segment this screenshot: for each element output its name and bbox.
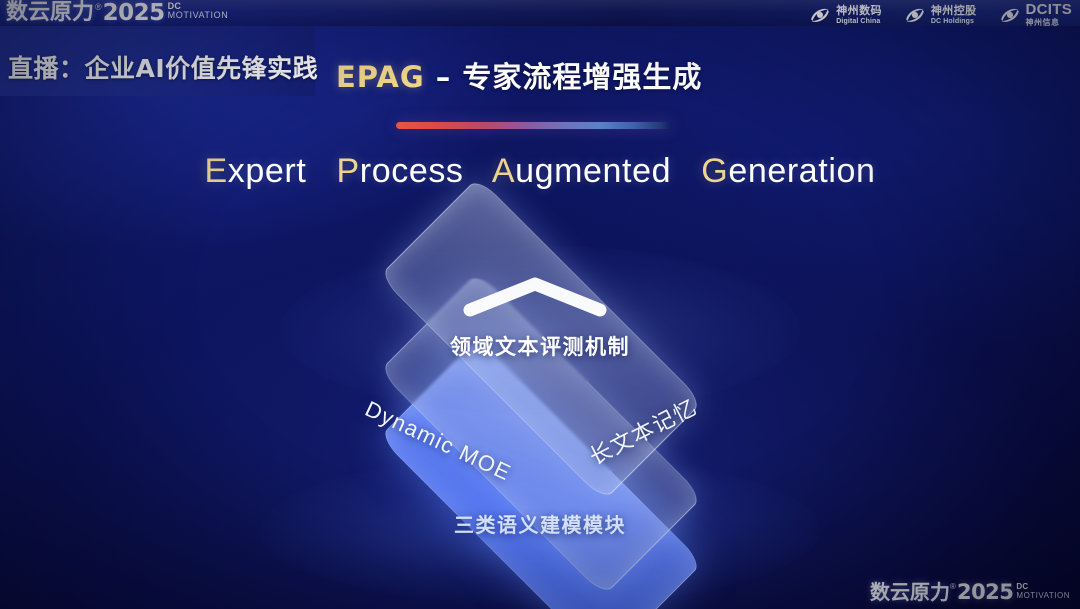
watermark-subtitle: DC MOTIVATION xyxy=(1016,582,1070,600)
watermark-motivation-label: MOTIVATION xyxy=(1016,591,1070,600)
brand-year: 2025 xyxy=(103,1,165,25)
partner-name-en: Digital China xyxy=(836,18,882,25)
partner-name-cn: 神州控股 xyxy=(931,5,977,16)
partner-logo-text: 神州控股 DC Holdings xyxy=(931,5,977,25)
watermark-dc-label: DC xyxy=(1016,582,1070,591)
watermark-year: 2025 xyxy=(957,581,1013,603)
subtitle-cap: E xyxy=(205,152,228,190)
partner-name-cn: DCITS xyxy=(1026,2,1073,17)
subtitle-cap: A xyxy=(492,152,515,190)
page-title: EPAG – 专家流程增强生成 xyxy=(336,54,702,96)
subtitle-word-process: Process xyxy=(337,152,464,190)
live-banner-label: 直播：企业AI价值先锋实践 xyxy=(8,49,318,85)
swirl-logo-icon xyxy=(999,5,1021,25)
subtitle-cap: G xyxy=(701,152,728,190)
swirl-logo-icon xyxy=(809,5,831,25)
subtitle-rest: rocess xyxy=(360,152,464,190)
partner-logo-digital-china: 神州数码 Digital China xyxy=(809,5,882,25)
brand-subtitle: DC MOTIVATION xyxy=(168,2,229,20)
partner-logo-group: 神州数码 Digital China 神州控股 DC Holdings xyxy=(809,2,1072,27)
brand-name-cn: 数云原力 xyxy=(6,1,94,25)
subtitle-space xyxy=(316,152,326,190)
bottom-watermark-logo: 数云原力 ® 2025 DC MOTIVATION xyxy=(870,581,1070,603)
partner-logo-dcits: DCITS 神州信息 xyxy=(999,2,1073,27)
subtitle-rest: eneration xyxy=(728,152,875,190)
subtitle-word-augmented: Augmented xyxy=(492,152,671,190)
title-acronym: EPAG xyxy=(336,60,425,94)
watermark-name-cn: 数云原力 xyxy=(870,581,950,603)
brand-motivation-label: MOTIVATION xyxy=(168,11,229,20)
subtitle-word-expert: Expert xyxy=(205,152,307,190)
subtitle-rest: xpert xyxy=(228,152,307,190)
partner-logo-dc-holdings: 神州控股 DC Holdings xyxy=(904,5,977,25)
brand-logo: 数云原力 ® 2025 DC MOTIVATION xyxy=(6,1,228,25)
registered-mark: ® xyxy=(95,1,102,13)
partner-name-cn: 神州数码 xyxy=(836,5,882,16)
partner-name-en: DC Holdings xyxy=(931,18,977,25)
subtitle-cap: P xyxy=(337,152,360,190)
subtitle-rest: ugmented xyxy=(515,152,671,190)
title-separator: – xyxy=(425,60,463,94)
swirl-logo-icon xyxy=(904,5,926,25)
subtitle-space xyxy=(681,152,691,190)
title-chinese: 专家流程增强生成 xyxy=(462,60,702,94)
gradient-divider xyxy=(396,122,672,129)
presentation-slide: 数云原力 ® 2025 DC MOTIVATION 神州数码 Digital C… xyxy=(0,0,1080,609)
partner-logo-text: DCITS 神州信息 xyxy=(1026,2,1073,27)
partner-name-en: 神州信息 xyxy=(1026,19,1073,27)
subtitle-word-generation: Generation xyxy=(701,152,875,190)
subtitle: Expert Process Augmented Generation xyxy=(0,152,1080,191)
watermark-registered-mark: ® xyxy=(950,581,956,592)
partner-logo-text: 神州数码 Digital China xyxy=(836,5,882,25)
